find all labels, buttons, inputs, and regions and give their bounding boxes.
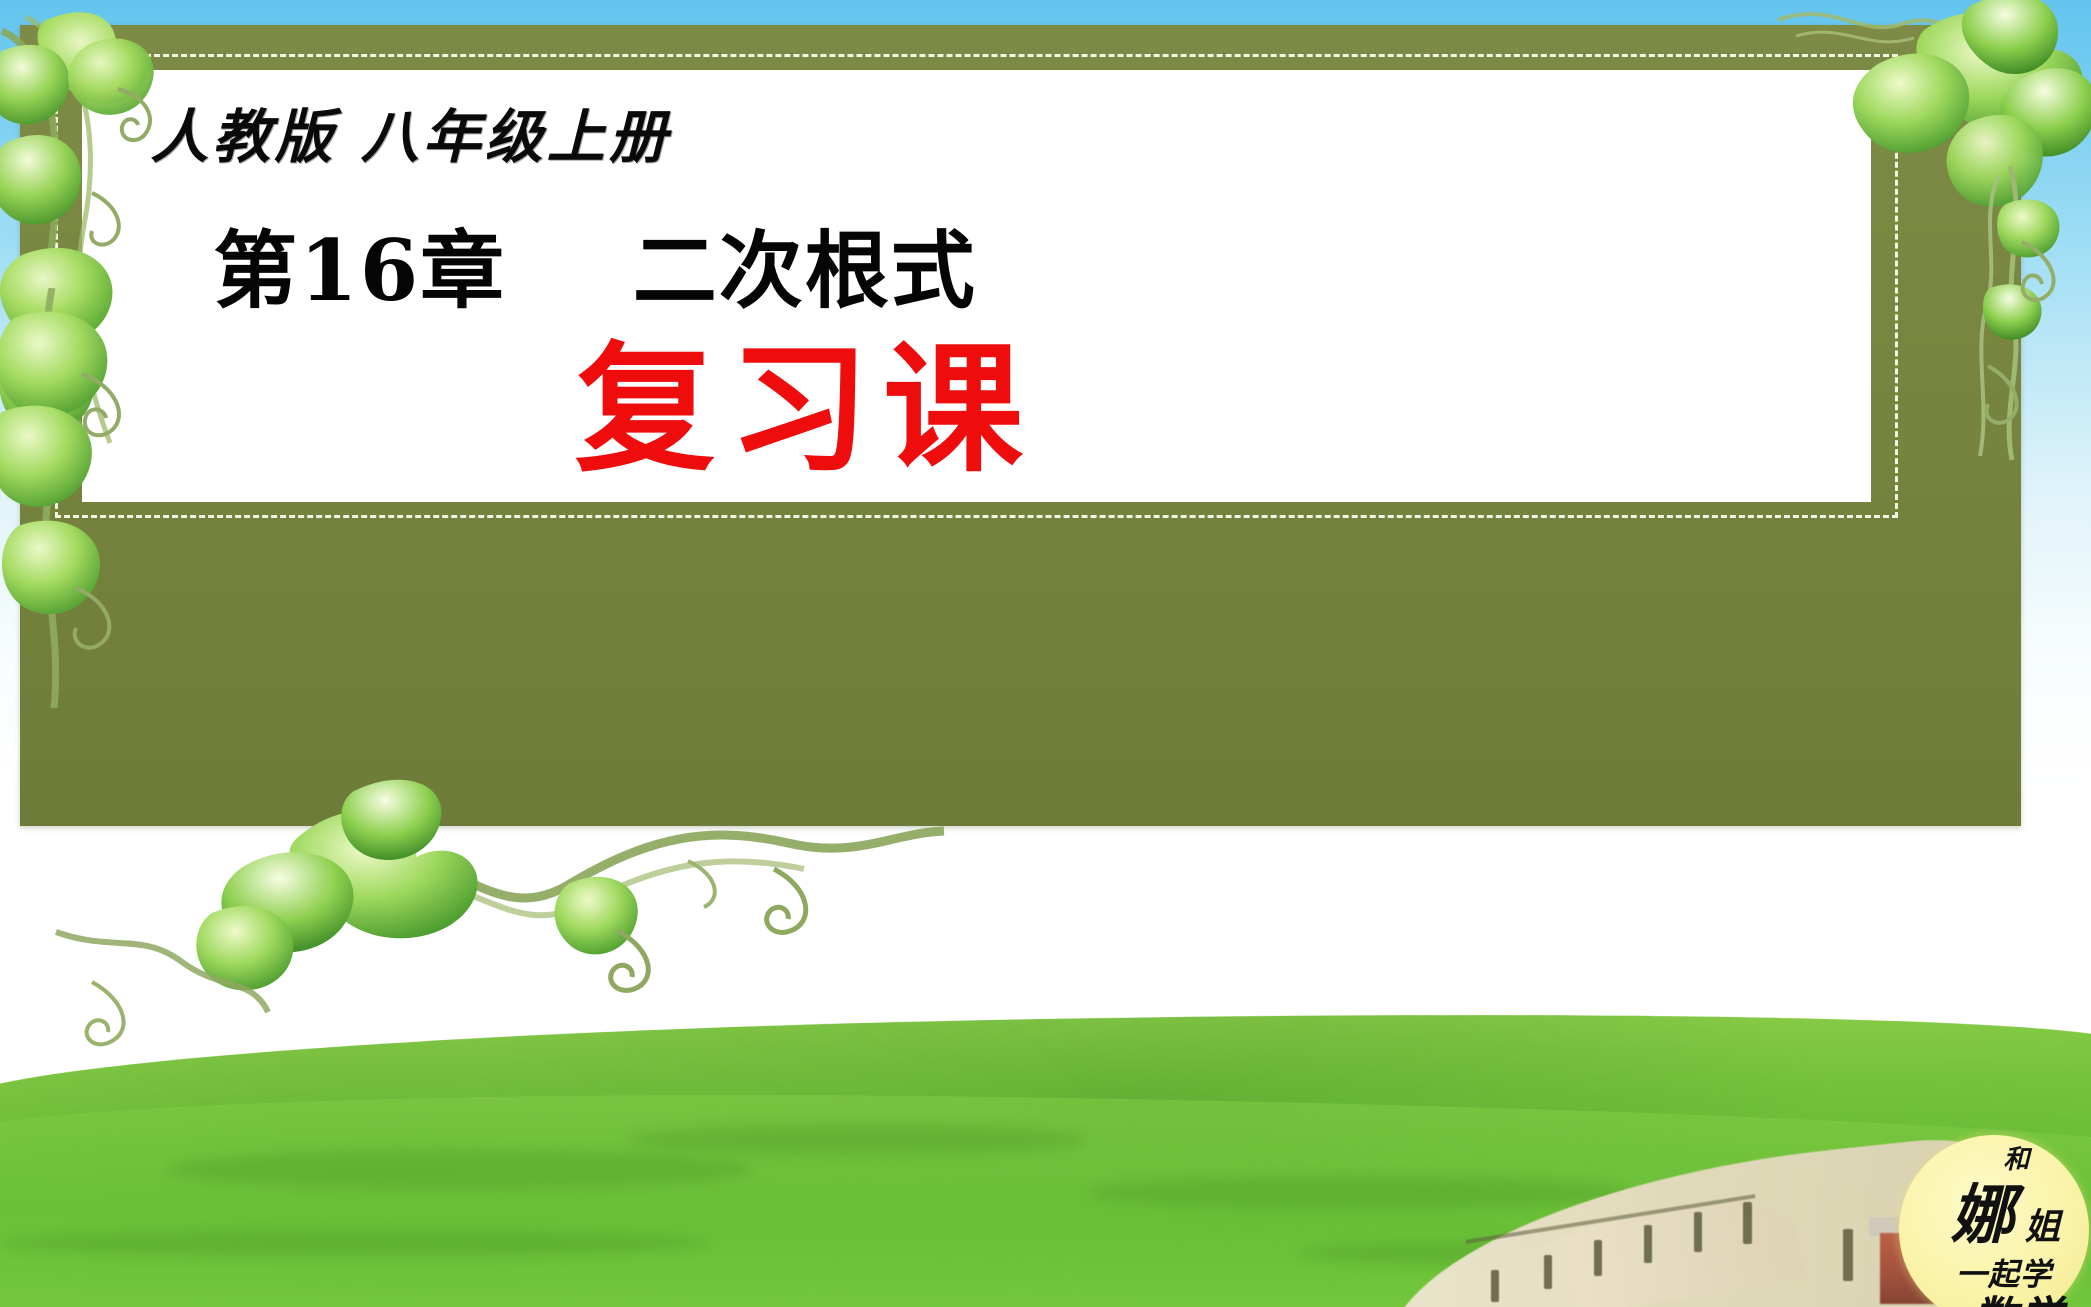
logo-text-group: 和 娜 姐 一起学 数学	[1899, 1135, 2089, 1307]
logo-char-na: 娜	[1950, 1164, 2014, 1256]
logo-char-jie: 姐	[2024, 1198, 2060, 1250]
presentation-slide: 人教版 八年级上册 第16章 二次根式 复习课 和 娜 姐 一起学 数学	[0, 0, 2091, 1307]
chapter-title: 二次根式	[633, 221, 977, 320]
logo-line-subject: 数学	[1973, 1282, 2065, 1307]
channel-logo-badge: 和 娜 姐 一起学 数学	[1899, 1135, 2089, 1307]
lesson-type-title: 复习课	[575, 333, 1037, 487]
chapter-heading: 第16章 二次根式	[213, 204, 976, 325]
edition-grade-subtitle: 人教版 八年级上册	[151, 90, 671, 174]
slide-text-layer: 人教版 八年级上册 第16章 二次根式 复习课	[0, 0, 2091, 1307]
chapter-number: 第16章	[213, 221, 506, 320]
